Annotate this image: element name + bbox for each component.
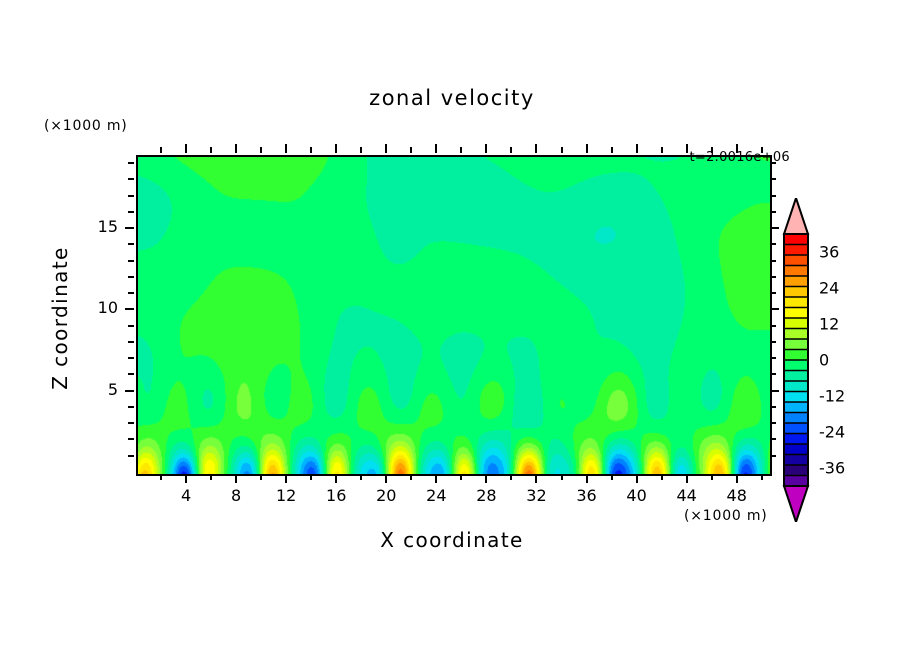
colorbar-gradient [779,198,813,522]
y-tick-minor-right [770,325,776,327]
x-tick-minor-top [360,147,362,153]
x-tick-minor-top [636,144,638,153]
x-axis-unit-label: (×1000 m) [684,508,768,524]
x-tick-minor-top [761,147,763,153]
plot-area [136,155,772,476]
x-tick-label: 32 [511,486,561,505]
colorbar-segment [784,392,808,403]
y-tick-minor [128,211,134,213]
y-tick-minor [128,162,134,164]
colorbar-segment [784,434,808,445]
colorbar-segment [784,402,808,413]
x-tick-minor-top [285,144,287,153]
y-tick-minor-right [770,390,779,392]
x-tick-minor-top [185,144,187,153]
x-tick-minor [385,474,387,483]
x-tick-label: 40 [612,486,662,505]
y-tick-minor [128,292,134,294]
y-tick-minor-right [770,292,776,294]
x-tick-minor-top [310,147,312,153]
y-tick-minor [128,276,134,278]
y-tick-minor-right [770,162,776,164]
y-tick-minor [128,373,134,375]
x-tick-minor-top [736,144,738,153]
colorbar-segment [784,318,808,329]
colorbar-segment [784,423,808,434]
x-tick-minor-top [260,147,262,153]
y-tick-minor [128,195,134,197]
y-tick-label: 15 [74,217,118,236]
x-tick-label: 48 [712,486,762,505]
x-tick-minor-top [435,144,437,153]
colorbar-tick-label: 0 [819,351,829,370]
y-tick-minor [128,422,134,424]
y-tick-minor-right [770,308,779,310]
x-tick-minor [260,474,262,480]
colorbar-segment [784,360,808,371]
x-tick-minor [410,474,412,480]
x-tick-minor [510,474,512,480]
y-tick-minor [128,341,134,343]
colorbar: 3624120-12-24-36 [779,198,813,522]
y-tick-minor-right [770,357,776,359]
colorbar-over-arrow [784,198,808,234]
colorbar-segment [784,339,808,350]
y-tick-minor-right [770,341,776,343]
colorbar-segment [784,308,808,319]
y-tick-minor [128,357,134,359]
x-tick-minor-top [586,144,588,153]
x-tick-minor [235,474,237,483]
x-tick-minor [636,474,638,483]
y-tick-minor-right [770,406,776,408]
x-tick-minor-top [686,144,688,153]
x-tick-minor [435,474,437,483]
x-tick-minor-top [611,147,613,153]
colorbar-segment [784,255,808,266]
x-tick-minor [360,474,362,480]
y-tick-minor-right [770,243,776,245]
x-tick-minor-top [385,144,387,153]
y-tick-minor [128,178,134,180]
x-tick-minor-top [210,147,212,153]
x-tick-label: 36 [562,486,612,505]
colorbar-segment [784,413,808,424]
y-tick-minor [125,308,134,310]
x-tick-minor [160,474,162,480]
x-tick-minor-top [410,147,412,153]
colorbar-tick-label: 12 [819,315,839,334]
y-tick-minor [128,438,134,440]
y-tick-minor-right [770,438,776,440]
figure-canvas: zonal velocity (×1000 m) t=2.0016e+06 48… [0,0,904,654]
y-tick-minor [128,325,134,327]
x-tick-minor-top [561,147,563,153]
y-axis-title: Z coordinate [48,228,72,408]
x-tick-minor-top [535,144,537,153]
plot-title: zonal velocity [0,86,904,110]
y-tick-minor [128,406,134,408]
y-tick-minor-right [770,422,776,424]
x-tick-minor-top [460,147,462,153]
x-tick-minor [535,474,537,483]
x-tick-label: 20 [361,486,411,505]
x-tick-minor [761,474,763,480]
colorbar-segment [784,371,808,382]
colorbar-tick-label: -36 [819,459,845,478]
x-tick-label: 8 [211,486,261,505]
colorbar-segment [784,444,808,455]
x-tick-minor [210,474,212,480]
x-tick-minor [185,474,187,483]
x-tick-minor-top [335,144,337,153]
y-tick-minor-right [770,195,776,197]
x-tick-minor [561,474,563,480]
x-axis-title: X coordinate [136,528,768,552]
colorbar-tick-label: -12 [819,387,845,406]
colorbar-segment [784,381,808,392]
x-tick-minor-top [661,147,663,153]
y-tick-minor-right [770,227,779,229]
y-tick-minor [128,260,134,262]
x-tick-minor-top [235,144,237,153]
x-tick-minor [661,474,663,480]
x-tick-minor [736,474,738,483]
x-tick-label: 16 [311,486,361,505]
colorbar-segment [784,297,808,308]
x-tick-minor-top [711,147,713,153]
colorbar-tick-label: 24 [819,279,839,298]
x-tick-minor [586,474,588,483]
colorbar-segment [784,465,808,476]
y-tick-minor-right [770,373,776,375]
x-tick-label: 24 [411,486,461,505]
x-tick-minor [711,474,713,480]
x-tick-minor [686,474,688,483]
colorbar-segment [784,287,808,298]
x-tick-label: 4 [161,486,211,505]
x-tick-minor [310,474,312,480]
colorbar-segment [784,476,808,487]
x-tick-label: 28 [461,486,511,505]
x-tick-label: 12 [261,486,311,505]
y-tick-minor [125,390,134,392]
colorbar-segment [784,266,808,277]
y-tick-minor-right [770,276,776,278]
y-tick-label: 10 [74,298,118,317]
y-tick-minor [128,243,134,245]
x-tick-minor [285,474,287,483]
y-tick-label: 5 [74,380,118,399]
colorbar-segment [784,245,808,256]
colorbar-under-arrow [784,486,808,522]
colorbar-segment [784,276,808,287]
x-tick-minor-top [510,147,512,153]
x-tick-minor-top [485,144,487,153]
y-tick-minor-right [770,211,776,213]
y-tick-minor [128,455,134,457]
colorbar-segment [784,234,808,245]
y-axis-unit-label: (×1000 m) [44,118,128,134]
x-tick-label: 44 [662,486,712,505]
colorbar-segment [784,329,808,340]
colorbar-tick-label: 36 [819,243,839,262]
y-tick-minor [125,227,134,229]
x-tick-minor [485,474,487,483]
y-tick-minor-right [770,260,776,262]
colorbar-segment [784,455,808,466]
colorbar-segment [784,350,808,361]
x-tick-minor [611,474,613,480]
x-tick-minor [335,474,337,483]
y-tick-minor-right [770,178,776,180]
contour-field [138,157,770,474]
y-tick-minor-right [770,455,776,457]
x-tick-minor-top [160,147,162,153]
x-tick-minor [460,474,462,480]
colorbar-tick-label: -24 [819,423,845,442]
